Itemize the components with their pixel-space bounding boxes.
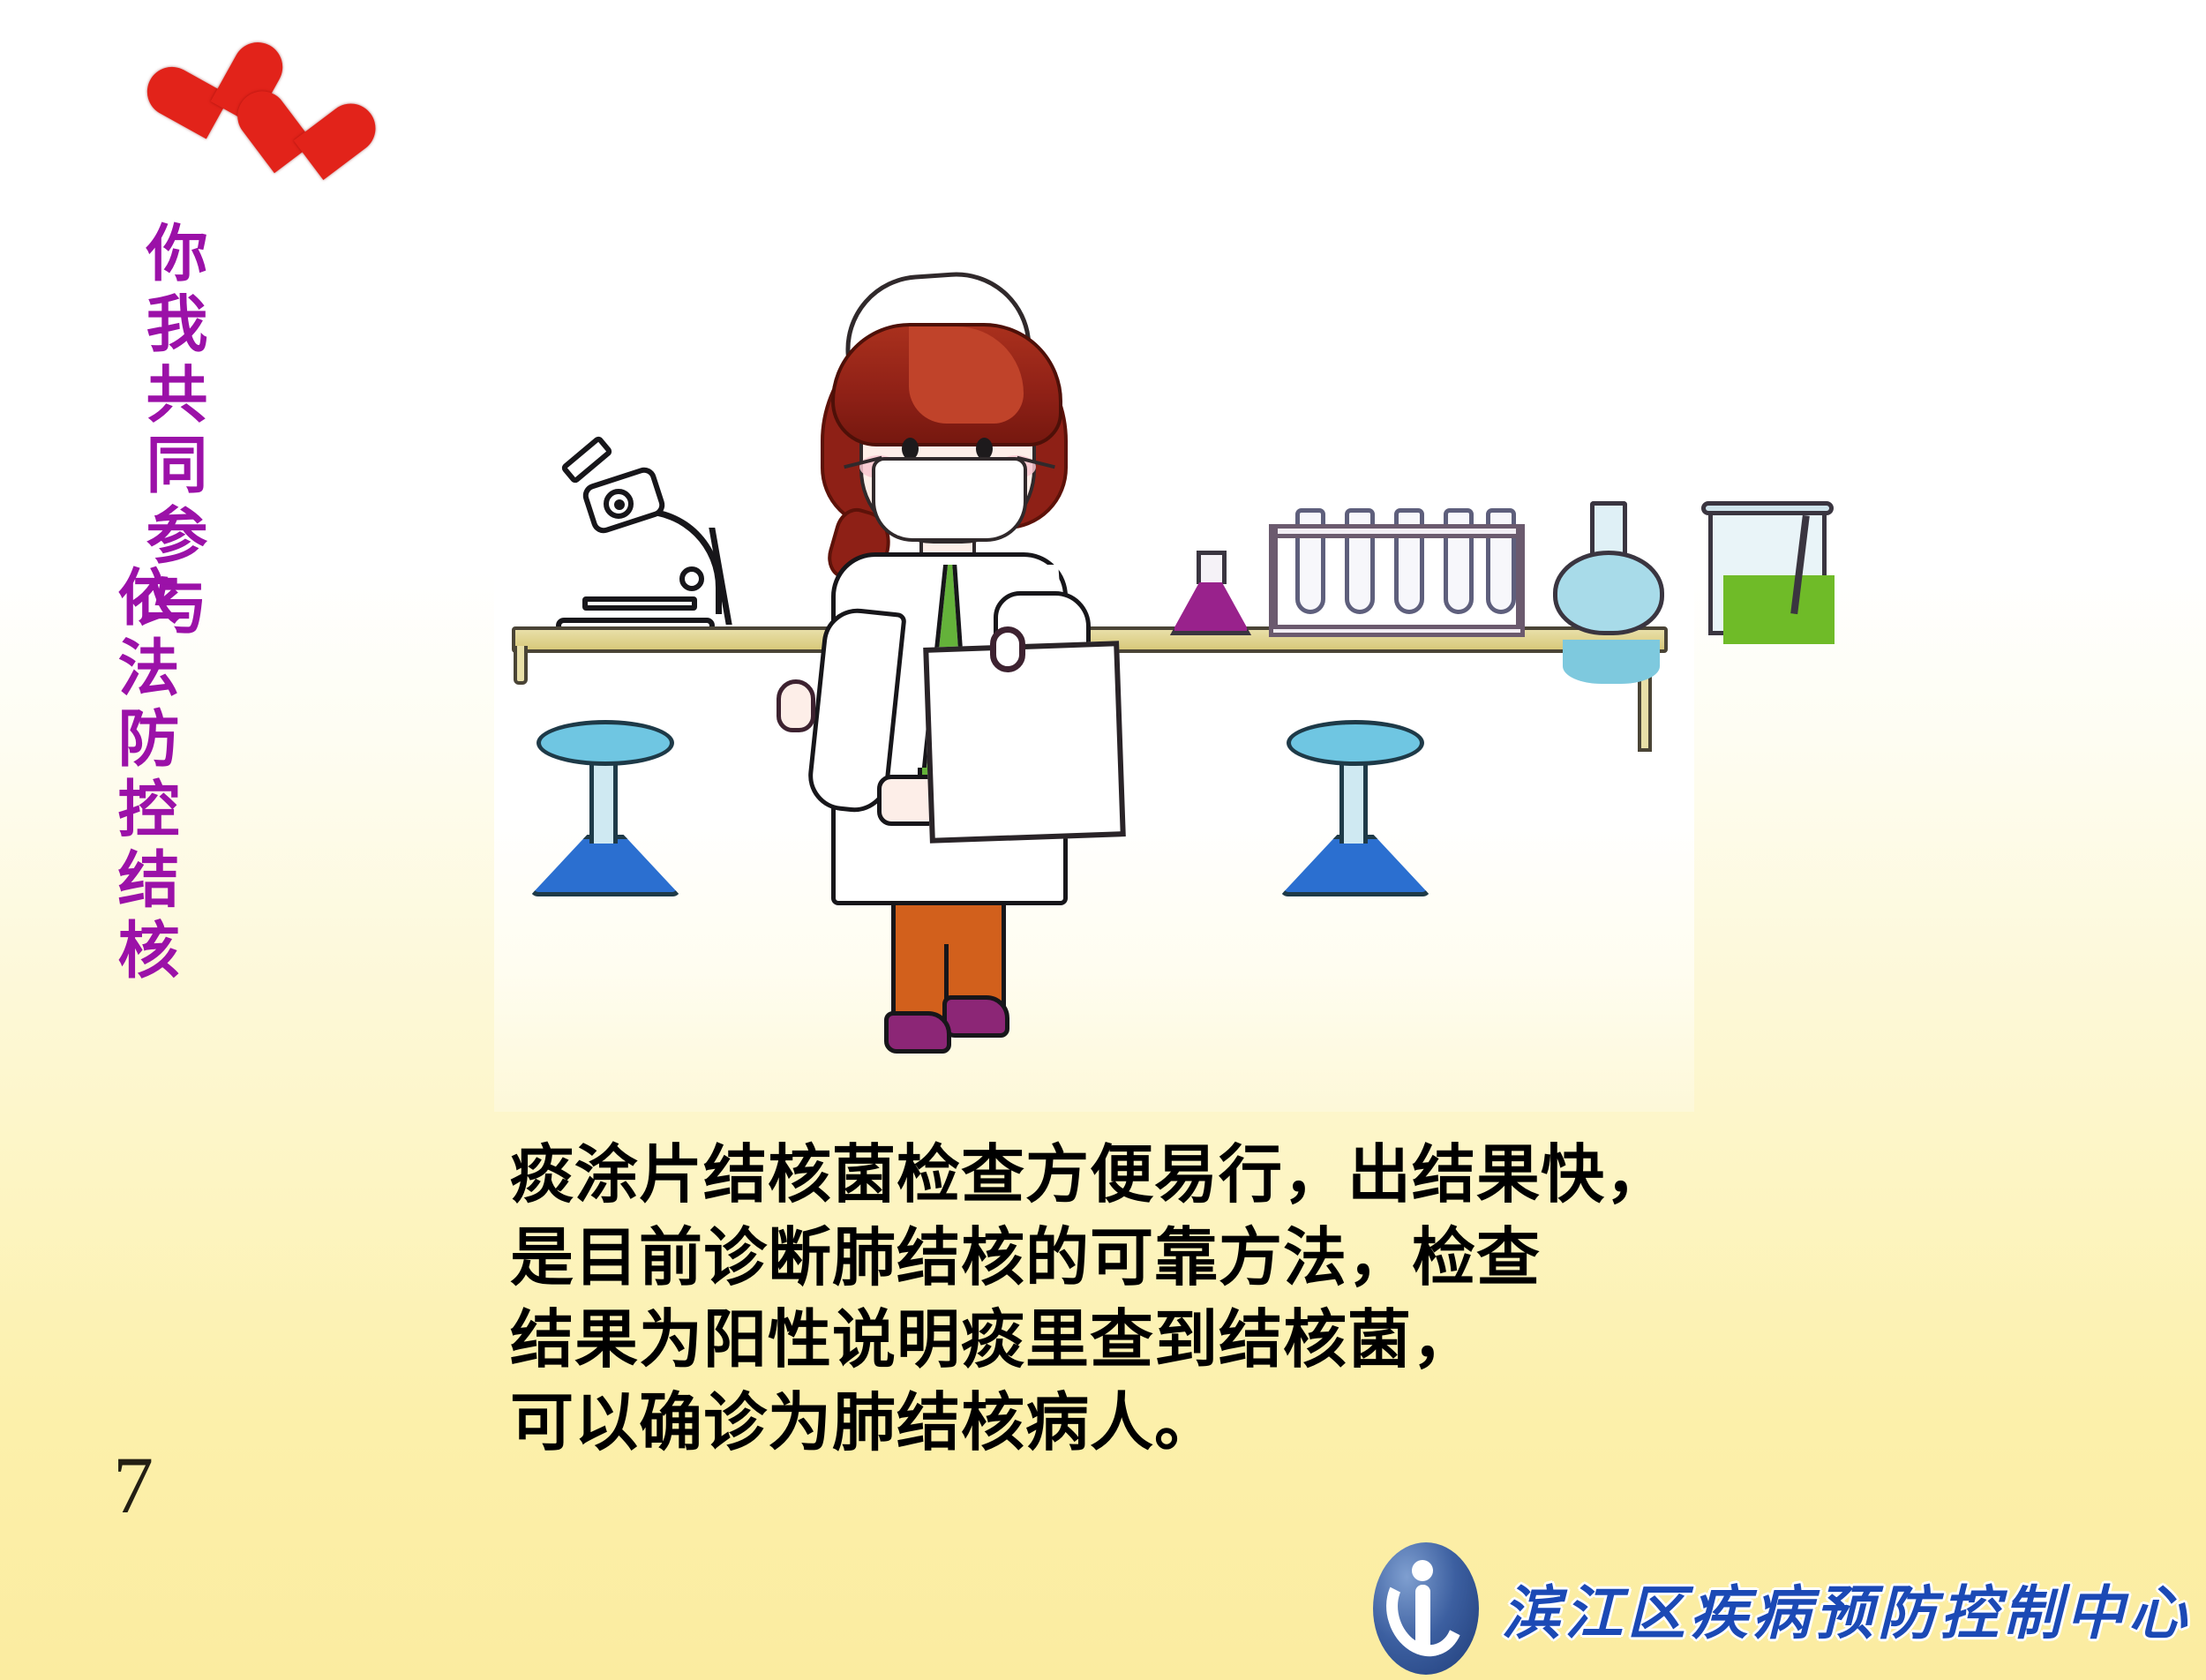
stool-post (1339, 759, 1368, 844)
beaker-glass (1708, 508, 1827, 635)
stool-post (589, 759, 618, 844)
body-text-line: 是目前诊断肺结核的可靠方法，检查 (510, 1217, 1887, 1300)
campaign-slogan-line-2: 依法防控结核 (113, 565, 175, 988)
nurse-shoe-left (884, 1011, 951, 1054)
rack-side-left (1269, 524, 1278, 628)
body-text-line: 可以确诊为肺结核病人。 (510, 1382, 1887, 1465)
stool-seat (536, 720, 674, 766)
flask-bulb (1553, 551, 1664, 635)
rack-side-right (1516, 524, 1525, 628)
page-number: 7 (113, 1438, 154, 1532)
lab-technician-illustration (494, 335, 1694, 1112)
body-text-line: 结果为阳性说明痰里查到结核菌， (510, 1299, 1887, 1382)
face-mask-icon (872, 457, 1027, 542)
bjcdc-person-logo-icon (1373, 1542, 1479, 1675)
round-bottom-flask-blue-icon (1553, 501, 1664, 635)
test-report-paper (923, 641, 1126, 844)
beaker-rim (1701, 501, 1834, 515)
beaker-liquid (1723, 575, 1835, 644)
slide-canvas: 你我共同参与 依法防控结核 (0, 0, 2206, 1680)
microscope-eyepiece (559, 434, 613, 484)
stool-seat (1287, 720, 1424, 766)
rack-bottom-bar (1269, 625, 1525, 637)
microscope-lens-core (614, 499, 625, 510)
body-text-line: 痰涂片结核菌检查方便易行，出结果快， (510, 1134, 1887, 1217)
logo-head-dot (1412, 1560, 1433, 1581)
organization-name: 滨江区疾病预防控制中心 (1502, 1566, 2191, 1651)
nurse-shoe-right (942, 995, 1009, 1038)
stool-left (521, 720, 688, 896)
microscope-stage (582, 596, 697, 611)
paper-clip-icon (990, 626, 1025, 672)
flask-liquid (1563, 640, 1660, 684)
stool-right (1271, 720, 1438, 896)
nurse-hand-right (777, 679, 815, 732)
body-text-block: 痰涂片结核菌检查方便易行，出结果快， 是目前诊断肺结核的可靠方法，检查 结果为阳… (510, 1134, 1887, 1464)
beaker-green-icon (1701, 496, 1834, 635)
heart-icon-front (223, 89, 326, 192)
two-hearts-icon (148, 55, 351, 214)
test-tube-rack-icon (1269, 508, 1525, 637)
rack-top-bar (1269, 524, 1525, 538)
microscope-icon (547, 448, 750, 634)
flask-neck (1197, 551, 1227, 584)
erlenmeyer-flask-purple-icon (1170, 551, 1251, 635)
microscope-focus-knob (679, 566, 704, 591)
logo-body-stem (1415, 1585, 1430, 1652)
footer-logo-block: 滨江区疾病预防控制中心 (1373, 1542, 2191, 1675)
flask-body (1170, 582, 1251, 635)
stool-base (1279, 835, 1431, 896)
stool-base (529, 835, 681, 896)
